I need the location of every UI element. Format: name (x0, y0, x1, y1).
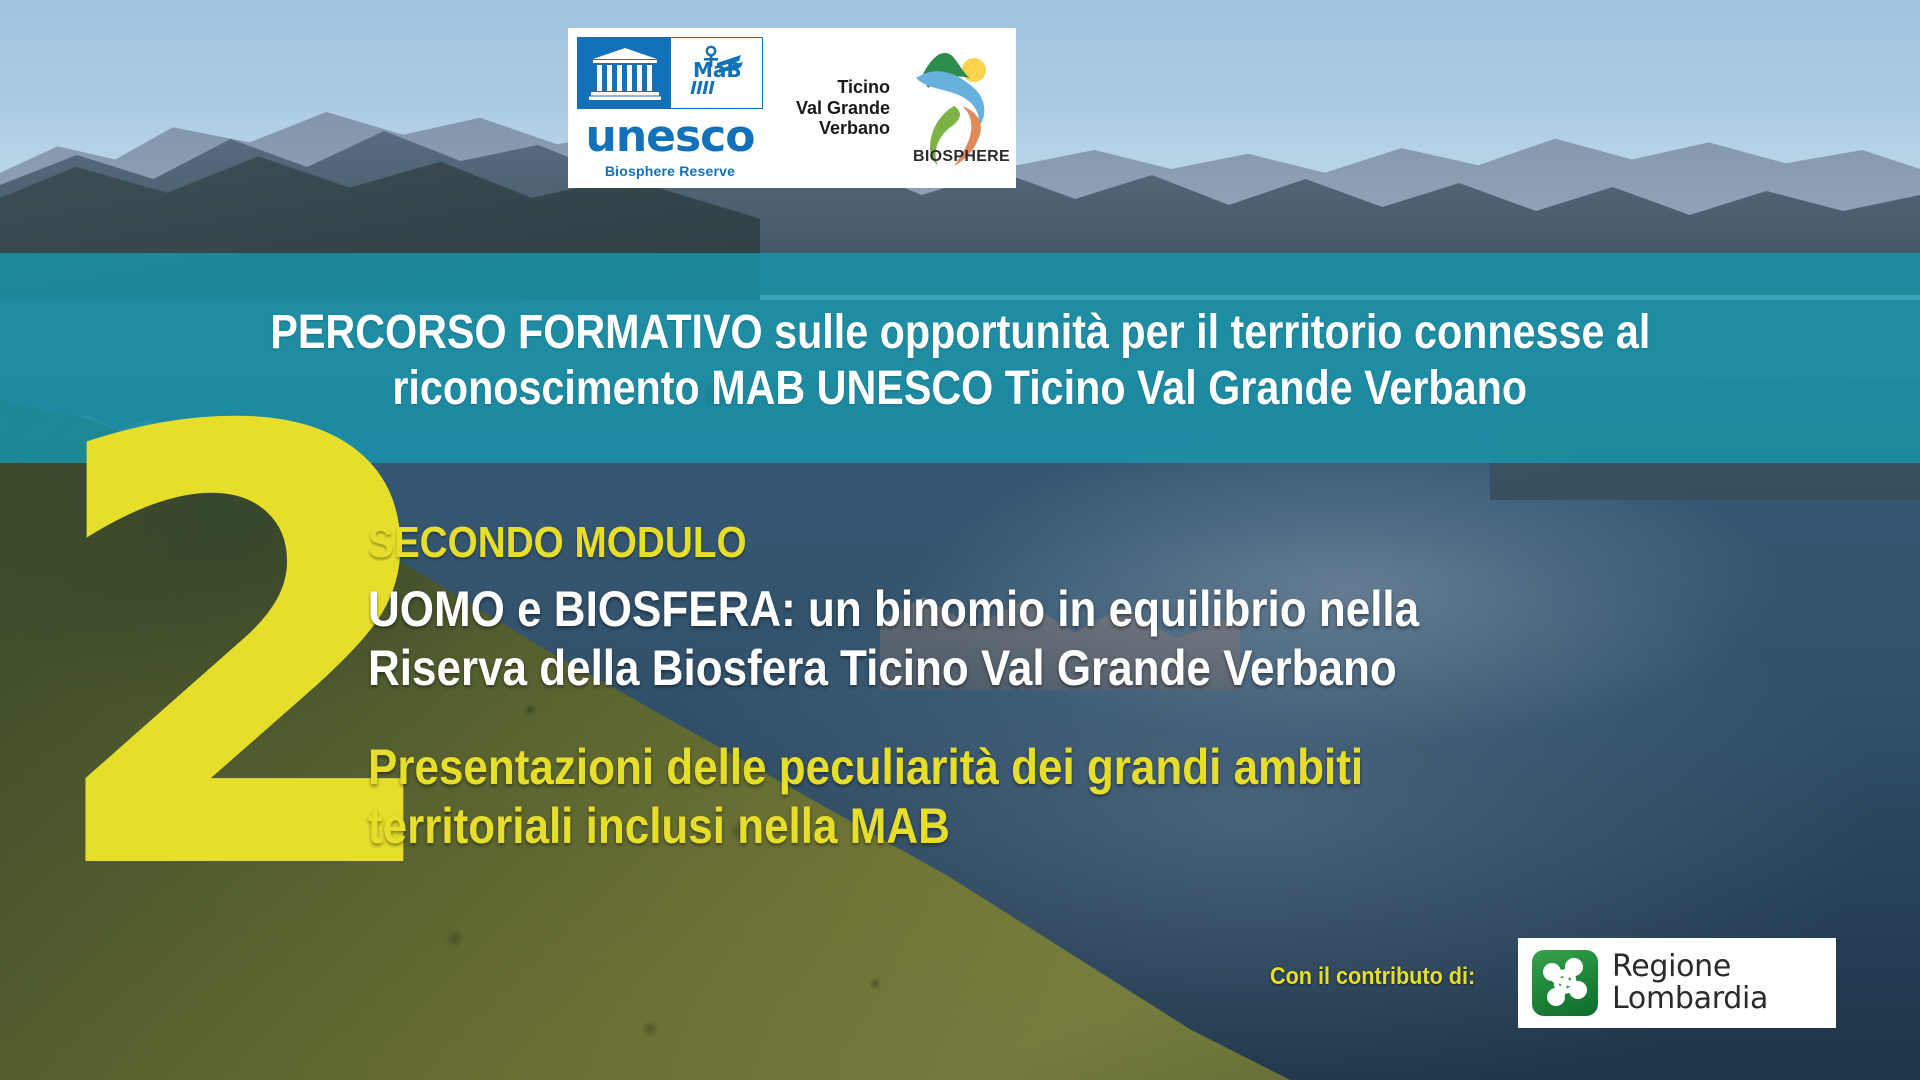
title-line-1: PERCORSO FORMATIVO sulle opportunità per… (270, 305, 1650, 361)
lombardia-rose-icon (1532, 950, 1598, 1016)
module-kicker: SECONDO MODULO (368, 520, 1512, 566)
biosphere-text-line2: Val Grande (794, 98, 890, 119)
module-note: Presentazioni delle peculiarità dei gran… (368, 738, 1512, 856)
module-text-block: SECONDO MODULO UOMO e BIOSFERA: un binom… (368, 520, 1668, 856)
biosphere-text-line3: Verbano (794, 118, 890, 139)
regione-lombardia-logo: Regione Lombardia (1518, 938, 1836, 1028)
mab-icon: MaB (671, 38, 762, 108)
module-note-line-1: Presentazioni delle peculiarità dei gran… (368, 738, 1512, 797)
credit-label: Con il contributo di: (1270, 963, 1475, 991)
regione-line-2: Lombardia (1612, 983, 1768, 1015)
unesco-emblem-pair: MaB (577, 37, 763, 109)
biosphere-symbol-icon: BIOSPHERE (894, 44, 1010, 172)
regione-line-1: Regione (1612, 951, 1768, 983)
module-note-line-2: territoriali inclusi nella MAB (368, 797, 1512, 856)
svg-text:MaB: MaB (693, 58, 742, 82)
unesco-logo: MaB unesco Biosphere Reserve (572, 37, 768, 179)
unesco-subtitle: Biosphere Reserve (605, 163, 735, 179)
module-title: UOMO e BIOSFERA: un binomio in equilibri… (368, 580, 1512, 698)
biosphere-label: BIOSPHERE (913, 148, 1010, 166)
module-title-line-1: UOMO e BIOSFERA: un binomio in equilibri… (368, 580, 1512, 639)
biosphere-logo-text: Ticino Val Grande Verbano (794, 77, 890, 139)
biosphere-text-line1: Ticino (794, 77, 890, 98)
regione-lombardia-text: Regione Lombardia (1612, 951, 1768, 1016)
biosphere-reserve-logo: Ticino Val Grande Verbano BIOSPHERE (794, 44, 1012, 172)
title-line-2: riconoscimento MAB UNESCO Ticino Val Gra… (393, 361, 1528, 417)
unesco-wordmark: unesco (586, 115, 755, 159)
unesco-temple-icon (578, 38, 671, 108)
module-title-line-2: Riserva della Biosfera Ticino Val Grande… (368, 639, 1512, 698)
logo-bar: MaB unesco Biosphere Reserve Ticino Val … (568, 28, 1016, 188)
